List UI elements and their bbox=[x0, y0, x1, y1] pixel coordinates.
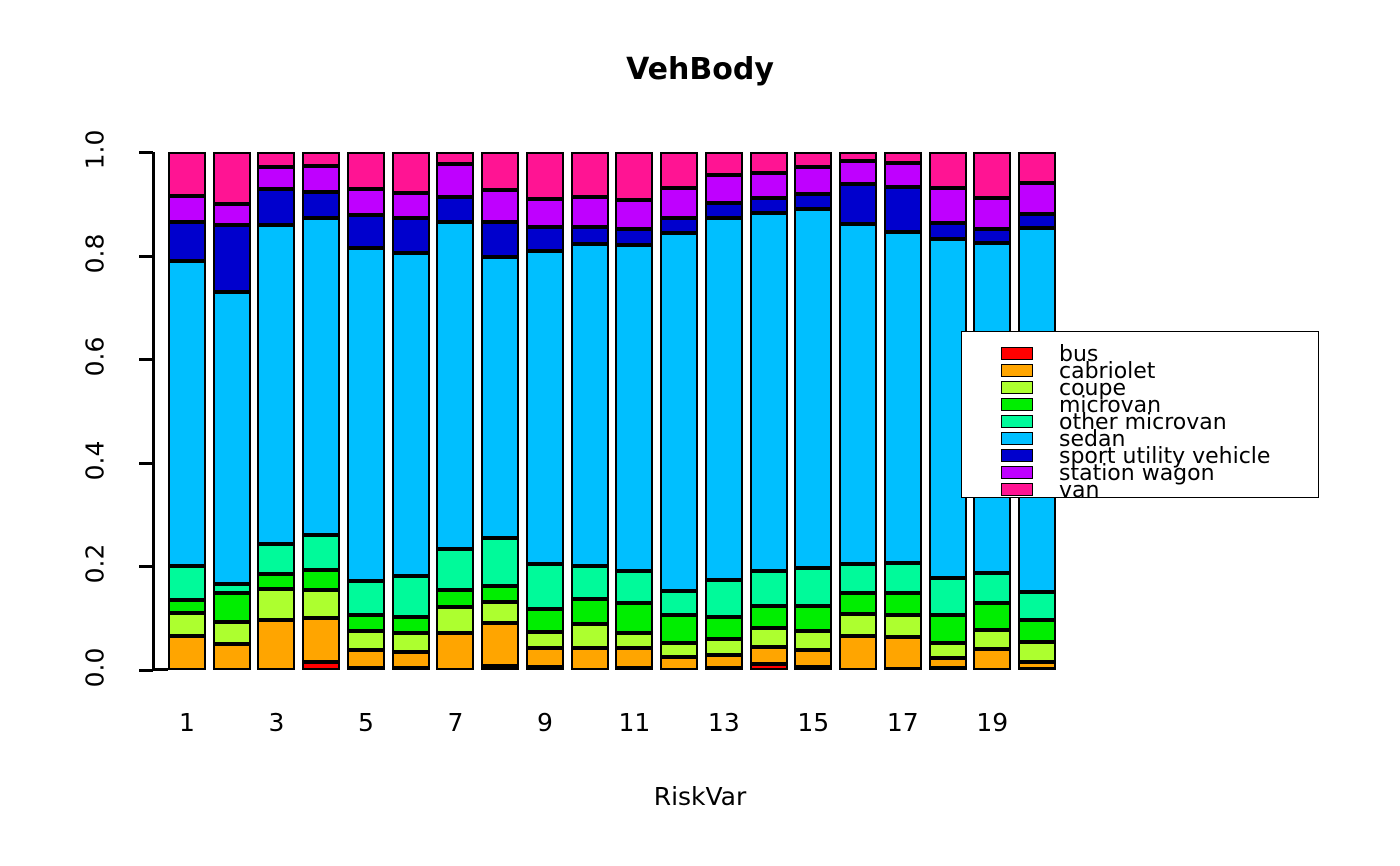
bar-segment-coupe[interactable] bbox=[973, 630, 1011, 649]
bar-segment-station-wagon[interactable] bbox=[615, 200, 653, 230]
legend-item[interactable]: other microvan bbox=[962, 413, 1318, 430]
bar-segment-other-microvan[interactable] bbox=[750, 571, 788, 606]
bar-segment-cabriolet[interactable] bbox=[213, 644, 251, 670]
bar-segment-sedan[interactable] bbox=[347, 248, 385, 582]
bar-segment-coupe[interactable] bbox=[481, 602, 519, 623]
bar-segment-coupe[interactable] bbox=[615, 633, 653, 649]
bar-column[interactable] bbox=[302, 152, 340, 670]
bar-segment-cabriolet[interactable] bbox=[436, 633, 474, 670]
bar-segment-cabriolet[interactable] bbox=[302, 618, 340, 662]
bar-segment-sedan[interactable] bbox=[571, 244, 609, 566]
bar-segment-coupe[interactable] bbox=[929, 643, 967, 658]
bar-segment-sport-utility-vehicle[interactable] bbox=[302, 192, 340, 218]
bar-segment-station-wagon[interactable] bbox=[213, 204, 251, 225]
y-axis-tick-label: 1.0 bbox=[81, 115, 110, 185]
bar-segment-microvan[interactable] bbox=[257, 574, 295, 589]
bar-segment-microvan[interactable] bbox=[213, 593, 251, 623]
bar-segment-sedan[interactable] bbox=[526, 251, 564, 564]
bar-segment-microvan[interactable] bbox=[347, 615, 385, 631]
bar-segment-cabriolet[interactable] bbox=[884, 637, 922, 669]
bar-segment-sport-utility-vehicle[interactable] bbox=[526, 227, 564, 251]
bar-segment-other-microvan[interactable] bbox=[213, 584, 251, 593]
y-axis-tick-label: 0.4 bbox=[81, 425, 110, 495]
bar-segment-sedan[interactable] bbox=[213, 292, 251, 583]
bar-segment-sport-utility-vehicle[interactable] bbox=[705, 203, 743, 218]
bar-segment-coupe[interactable] bbox=[660, 643, 698, 657]
bar-segment-van[interactable] bbox=[884, 152, 922, 163]
x-axis-tick-label: 13 bbox=[694, 708, 754, 737]
bar-segment-other-microvan[interactable] bbox=[526, 564, 564, 609]
bar-column[interactable] bbox=[481, 152, 519, 670]
bar-segment-other-microvan[interactable] bbox=[302, 535, 340, 570]
chart-title: VehBody bbox=[0, 52, 1400, 87]
bar-segment-bus[interactable] bbox=[750, 664, 788, 670]
bar-segment-sport-utility-vehicle[interactable] bbox=[213, 225, 251, 293]
bar-segment-other-microvan[interactable] bbox=[794, 568, 832, 606]
bar-segment-other-microvan[interactable] bbox=[660, 591, 698, 615]
bar-segment-station-wagon[interactable] bbox=[571, 197, 609, 227]
bar-segment-sport-utility-vehicle[interactable] bbox=[750, 198, 788, 213]
legend-item[interactable]: van bbox=[962, 481, 1318, 498]
bar-segment-cabriolet[interactable] bbox=[168, 636, 206, 670]
x-axis-title: RiskVar bbox=[0, 782, 1400, 811]
bar-segment-van[interactable] bbox=[571, 152, 609, 197]
y-axis-tick bbox=[139, 669, 153, 672]
legend-swatch-van bbox=[1001, 483, 1033, 496]
bar-segment-sedan[interactable] bbox=[705, 218, 743, 580]
bar-segment-coupe[interactable] bbox=[750, 628, 788, 648]
legend-item[interactable]: cabriolet bbox=[962, 362, 1318, 379]
y-axis-tick-label: 0.8 bbox=[81, 218, 110, 288]
bar-segment-microvan[interactable] bbox=[615, 603, 653, 633]
x-axis-tick-label: 19 bbox=[962, 708, 1022, 737]
bar-segment-microvan[interactable] bbox=[168, 600, 206, 613]
legend-swatch-cabriolet bbox=[1001, 364, 1033, 377]
legend-swatch-sport-utility-vehicle bbox=[1001, 449, 1033, 462]
bar-segment-other-microvan[interactable] bbox=[257, 544, 295, 575]
legend-item[interactable]: station wagon bbox=[962, 464, 1318, 481]
bar-segment-microvan[interactable] bbox=[884, 593, 922, 615]
bar-segment-microvan[interactable] bbox=[929, 615, 967, 643]
bar-column[interactable] bbox=[213, 152, 251, 670]
bar-segment-microvan[interactable] bbox=[392, 617, 430, 633]
bar-segment-van[interactable] bbox=[168, 152, 206, 196]
bar-segment-microvan[interactable] bbox=[794, 606, 832, 631]
bar-segment-cabriolet[interactable] bbox=[660, 657, 698, 670]
bar-segment-van[interactable] bbox=[705, 152, 743, 175]
bar-segment-sedan[interactable] bbox=[615, 245, 653, 571]
bar-segment-station-wagon[interactable] bbox=[302, 166, 340, 192]
bar-segment-sport-utility-vehicle[interactable] bbox=[615, 229, 653, 245]
bar-segment-sedan[interactable] bbox=[481, 257, 519, 538]
bar-segment-coupe[interactable] bbox=[257, 589, 295, 620]
bar-segment-cabriolet[interactable] bbox=[750, 647, 788, 664]
bar-segment-coupe[interactable] bbox=[794, 631, 832, 650]
x-axis-tick-label: 3 bbox=[246, 708, 306, 737]
bar-segment-station-wagon[interactable] bbox=[1018, 183, 1056, 214]
bar-segment-station-wagon[interactable] bbox=[347, 189, 385, 215]
y-axis-tick bbox=[139, 462, 153, 465]
legend-swatch-microvan bbox=[1001, 398, 1033, 411]
bar-segment-other-microvan[interactable] bbox=[168, 566, 206, 600]
bar-segment-microvan[interactable] bbox=[526, 609, 564, 632]
bar-segment-sport-utility-vehicle[interactable] bbox=[884, 187, 922, 233]
bar-segment-cabriolet[interactable] bbox=[257, 620, 295, 670]
bar-segment-sedan[interactable] bbox=[750, 213, 788, 570]
bar-segment-microvan[interactable] bbox=[750, 606, 788, 628]
bar-segment-sport-utility-vehicle[interactable] bbox=[973, 229, 1011, 243]
bar-column[interactable] bbox=[571, 152, 609, 670]
y-axis-tick-label: 0.0 bbox=[81, 633, 110, 703]
bar-segment-cabriolet[interactable] bbox=[929, 658, 967, 668]
bar-segment-other-microvan[interactable] bbox=[436, 549, 474, 589]
bar-segment-microvan[interactable] bbox=[660, 615, 698, 643]
bar-segment-other-microvan[interactable] bbox=[392, 576, 430, 617]
bar-segment-sedan[interactable] bbox=[660, 233, 698, 591]
bar-segment-other-microvan[interactable] bbox=[929, 578, 967, 615]
legend-swatch-coupe bbox=[1001, 381, 1033, 394]
bar-segment-cabriolet[interactable] bbox=[481, 623, 519, 666]
bar-segment-sport-utility-vehicle[interactable] bbox=[436, 197, 474, 222]
bar-segment-van[interactable] bbox=[1018, 152, 1056, 183]
bar-segment-van[interactable] bbox=[973, 152, 1011, 198]
bar-segment-sedan[interactable] bbox=[257, 225, 295, 544]
legend-swatch-other-microvan bbox=[1001, 415, 1033, 428]
bar-column[interactable] bbox=[436, 152, 474, 670]
bar-segment-other-microvan[interactable] bbox=[973, 573, 1011, 603]
y-axis-tick-label: 0.6 bbox=[81, 322, 110, 392]
legend-swatch-sedan bbox=[1001, 432, 1033, 445]
bar-segment-microvan[interactable] bbox=[1018, 620, 1056, 642]
bar-segment-coupe[interactable] bbox=[705, 639, 743, 655]
bar-segment-coupe[interactable] bbox=[392, 633, 430, 653]
bar-segment-van[interactable] bbox=[481, 152, 519, 190]
bar-segment-sport-utility-vehicle[interactable] bbox=[660, 218, 698, 233]
bar-segment-van[interactable] bbox=[257, 152, 295, 167]
bar-segment-other-microvan[interactable] bbox=[884, 563, 922, 594]
bar-segment-van[interactable] bbox=[436, 152, 474, 164]
bar-segment-station-wagon[interactable] bbox=[750, 173, 788, 198]
bar-segment-other-microvan[interactable] bbox=[571, 566, 609, 599]
bar-column[interactable] bbox=[705, 152, 743, 670]
bar-column[interactable] bbox=[839, 152, 877, 670]
bar-segment-sport-utility-vehicle[interactable] bbox=[347, 215, 385, 248]
bar-segment-cabriolet[interactable] bbox=[615, 648, 653, 668]
bar-segment-station-wagon[interactable] bbox=[168, 196, 206, 223]
bar-segment-cabriolet[interactable] bbox=[794, 650, 832, 667]
bar-segment-cabriolet[interactable] bbox=[705, 655, 743, 668]
bar-segment-sedan[interactable] bbox=[794, 209, 832, 568]
bar-segment-cabriolet[interactable] bbox=[526, 648, 564, 667]
bar-segment-coupe[interactable] bbox=[347, 631, 385, 650]
bar-column[interactable] bbox=[168, 152, 206, 670]
bar-column[interactable] bbox=[615, 152, 653, 670]
bar-column[interactable] bbox=[257, 152, 295, 670]
bar-segment-coupe[interactable] bbox=[884, 615, 922, 637]
y-axis-tick bbox=[139, 358, 153, 361]
bar-segment-coupe[interactable] bbox=[436, 607, 474, 633]
bar-segment-sedan[interactable] bbox=[392, 253, 430, 577]
bar-segment-station-wagon[interactable] bbox=[526, 199, 564, 227]
bar-column[interactable] bbox=[392, 152, 430, 670]
bar-segment-station-wagon[interactable] bbox=[392, 193, 430, 218]
plot-area bbox=[168, 152, 1056, 670]
bar-column[interactable] bbox=[794, 152, 832, 670]
bar-segment-van[interactable] bbox=[839, 152, 877, 161]
x-axis-tick-label: 7 bbox=[425, 708, 485, 737]
bar-column[interactable] bbox=[526, 152, 564, 670]
legend-label: van bbox=[1059, 478, 1099, 503]
bar-segment-sedan[interactable] bbox=[839, 224, 877, 564]
bar-segment-other-microvan[interactable] bbox=[481, 538, 519, 586]
bar-segment-microvan[interactable] bbox=[481, 586, 519, 602]
bar-segment-coupe[interactable] bbox=[302, 590, 340, 618]
bar-segment-other-microvan[interactable] bbox=[347, 581, 385, 615]
bar-segment-cabriolet[interactable] bbox=[392, 652, 430, 668]
bar-segment-cabriolet[interactable] bbox=[1018, 662, 1056, 669]
y-axis-tick bbox=[139, 151, 153, 154]
bar-segment-station-wagon[interactable] bbox=[481, 190, 519, 222]
bar-segment-sedan[interactable] bbox=[884, 232, 922, 562]
bar-segment-station-wagon[interactable] bbox=[794, 167, 832, 194]
bar-segment-station-wagon[interactable] bbox=[257, 167, 295, 189]
bar-segment-microvan[interactable] bbox=[302, 570, 340, 590]
bar-segment-van[interactable] bbox=[347, 152, 385, 189]
bar-segment-other-microvan[interactable] bbox=[839, 564, 877, 592]
bar-segment-sedan[interactable] bbox=[436, 222, 474, 549]
y-axis-tick bbox=[139, 565, 153, 568]
bar-segment-coupe[interactable] bbox=[213, 622, 251, 643]
bar-column[interactable] bbox=[347, 152, 385, 670]
bar-segment-van[interactable] bbox=[392, 152, 430, 193]
bar-segment-van[interactable] bbox=[929, 152, 967, 188]
y-axis-line bbox=[152, 152, 155, 671]
bar-segment-van[interactable] bbox=[213, 152, 251, 204]
bar-segment-van[interactable] bbox=[615, 152, 653, 200]
bar-segment-bus[interactable] bbox=[302, 662, 340, 670]
bar-segment-van[interactable] bbox=[526, 152, 564, 199]
bar-segment-coupe[interactable] bbox=[571, 624, 609, 647]
bar-segment-microvan[interactable] bbox=[571, 599, 609, 625]
bar-segment-station-wagon[interactable] bbox=[884, 163, 922, 187]
bar-segment-microvan[interactable] bbox=[705, 617, 743, 639]
x-axis-tick-label: 17 bbox=[873, 708, 933, 737]
bar-segment-sport-utility-vehicle[interactable] bbox=[571, 227, 609, 244]
bar-segment-station-wagon[interactable] bbox=[973, 198, 1011, 229]
legend-swatch-station-wagon bbox=[1001, 466, 1033, 479]
y-axis-tick bbox=[139, 255, 153, 258]
chart-container: VehBody 0.00.20.40.60.81.0 1357911131517… bbox=[0, 0, 1400, 866]
bar-segment-coupe[interactable] bbox=[839, 614, 877, 636]
bar-segment-sport-utility-vehicle[interactable] bbox=[839, 184, 877, 224]
bar-segment-microvan[interactable] bbox=[436, 590, 474, 607]
bar-segment-other-microvan[interactable] bbox=[705, 580, 743, 617]
legend: buscabrioletcoupemicrovanother microvans… bbox=[961, 331, 1319, 498]
bar-segment-sedan[interactable] bbox=[302, 218, 340, 535]
bar-segment-station-wagon[interactable] bbox=[436, 164, 474, 197]
bar-segment-sport-utility-vehicle[interactable] bbox=[392, 218, 430, 252]
bar-column[interactable] bbox=[660, 152, 698, 670]
bar-segment-van[interactable] bbox=[750, 152, 788, 173]
x-axis-tick-label: 11 bbox=[604, 708, 664, 737]
bar-segment-sedan[interactable] bbox=[168, 261, 206, 566]
x-axis-tick-label: 5 bbox=[336, 708, 396, 737]
x-axis-tick-label: 15 bbox=[783, 708, 843, 737]
x-axis-tick-label: 1 bbox=[157, 708, 217, 737]
bar-segment-cabriolet[interactable] bbox=[347, 650, 385, 668]
bar-segment-microvan[interactable] bbox=[839, 593, 877, 614]
bar-segment-sport-utility-vehicle[interactable] bbox=[794, 194, 832, 209]
bar-segment-sport-utility-vehicle[interactable] bbox=[168, 222, 206, 261]
bar-segment-sport-utility-vehicle[interactable] bbox=[481, 222, 519, 257]
bar-segment-other-microvan[interactable] bbox=[1018, 592, 1056, 620]
x-axis-tick-label: 9 bbox=[515, 708, 575, 737]
bar-segment-station-wagon[interactable] bbox=[929, 188, 967, 223]
bar-segment-van[interactable] bbox=[660, 152, 698, 188]
bar-segment-coupe[interactable] bbox=[1018, 642, 1056, 662]
bar-segment-station-wagon[interactable] bbox=[839, 161, 877, 184]
bar-column[interactable] bbox=[884, 152, 922, 670]
bar-segment-other-microvan[interactable] bbox=[615, 571, 653, 603]
bar-segment-cabriolet[interactable] bbox=[973, 649, 1011, 670]
bar-segment-coupe[interactable] bbox=[526, 632, 564, 648]
bar-segment-cabriolet[interactable] bbox=[571, 648, 609, 670]
y-axis-tick-label: 0.2 bbox=[81, 529, 110, 599]
bar-segment-microvan[interactable] bbox=[973, 603, 1011, 630]
bar-segment-van[interactable] bbox=[794, 152, 832, 167]
bar-segment-sport-utility-vehicle[interactable] bbox=[257, 189, 295, 225]
bar-segment-sport-utility-vehicle[interactable] bbox=[1018, 214, 1056, 228]
bar-segment-station-wagon[interactable] bbox=[705, 175, 743, 202]
bar-segment-coupe[interactable] bbox=[168, 613, 206, 636]
bar-segment-station-wagon[interactable] bbox=[660, 188, 698, 218]
legend-swatch-bus bbox=[1001, 347, 1033, 360]
bar-segment-bus[interactable] bbox=[481, 666, 519, 670]
bar-segment-van[interactable] bbox=[302, 152, 340, 166]
x-axis-line bbox=[152, 668, 168, 671]
bar-column[interactable] bbox=[750, 152, 788, 670]
bar-segment-cabriolet[interactable] bbox=[839, 636, 877, 670]
bar-segment-sport-utility-vehicle[interactable] bbox=[929, 223, 967, 239]
